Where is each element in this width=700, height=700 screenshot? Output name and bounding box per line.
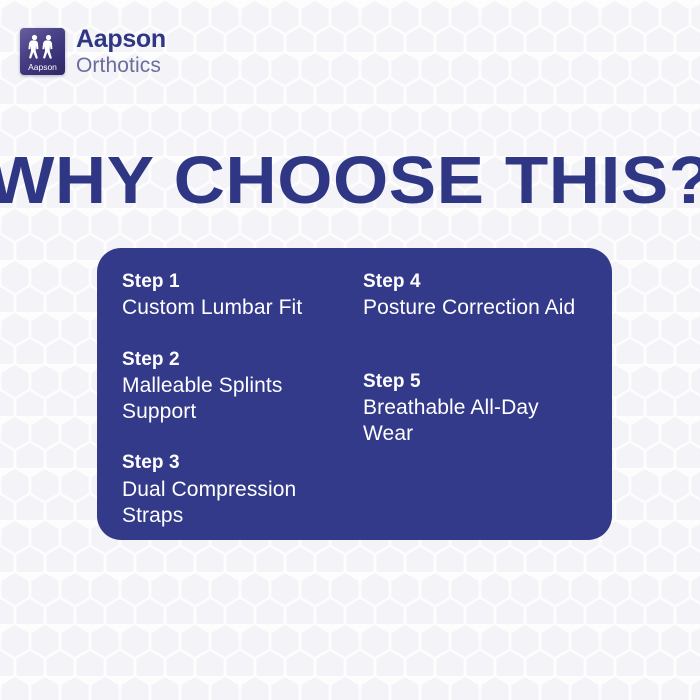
step-item: Step 5 Breathable All-Day Wear xyxy=(363,370,586,448)
step-label: Step 2 xyxy=(122,348,345,372)
brand-name: Aapson xyxy=(76,27,166,52)
aapson-logo-icon: Aapson xyxy=(20,28,65,75)
brand-subtitle: Orthotics xyxy=(76,55,166,76)
step-item: Step 2 Malleable Splints Support xyxy=(122,348,345,426)
step-label: Step 1 xyxy=(122,270,345,294)
brand-header: Aapson Aapson Orthotics xyxy=(20,27,166,76)
step-description: Dual Compression Straps xyxy=(122,477,345,530)
step-item: Step 1 Custom Lumbar Fit xyxy=(122,270,345,322)
svg-text:Aapson: Aapson xyxy=(28,62,57,72)
steps-column-right: Step 4 Posture Correction Aid Step 5 Bre… xyxy=(363,270,586,518)
steps-column-left: Step 1 Custom Lumbar Fit Step 2 Malleabl… xyxy=(122,270,345,518)
step-item: Step 3 Dual Compression Straps xyxy=(122,451,345,529)
step-item: Step 4 Posture Correction Aid xyxy=(363,270,586,322)
step-description: Posture Correction Aid xyxy=(363,295,586,321)
steps-card: Step 1 Custom Lumbar Fit Step 2 Malleabl… xyxy=(97,248,612,540)
step-description: Custom Lumbar Fit xyxy=(122,295,345,321)
page-title: WHY CHOOSE THIS? xyxy=(0,142,700,219)
step-label: Step 5 xyxy=(363,370,586,394)
step-description: Malleable Splints Support xyxy=(122,373,345,426)
step-label: Step 4 xyxy=(363,270,586,294)
step-description: Breathable All-Day Wear xyxy=(363,395,586,448)
step-label: Step 3 xyxy=(122,451,345,475)
